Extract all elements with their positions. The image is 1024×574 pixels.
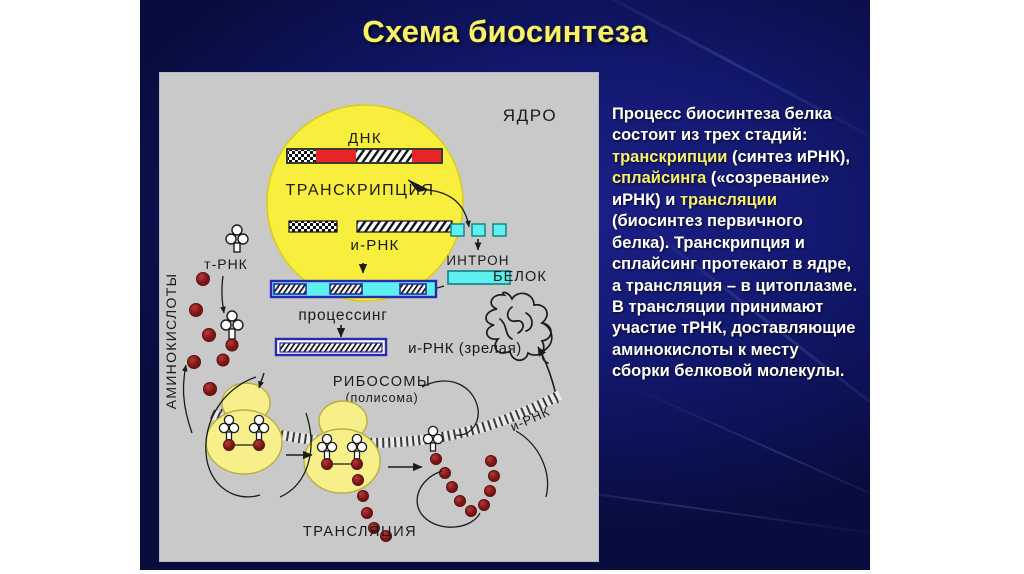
trna-free-top [226,225,248,252]
label-protein: БЕЛОК [493,269,547,285]
arrow-trna-down [222,276,224,313]
arrow-enter-ribosome [259,373,264,388]
light-streak [624,383,870,519]
label-translation: ТРАНСЛЯЦИЯ [303,524,417,540]
peptide-chain-right [431,454,500,517]
description-text: Процесс биосинтеза белка состоит из трех… [612,104,860,383]
biosynthesis-diagram-panel: ЯДРО ДНК ТРАНСКРИПЦИЯ и-РНК [159,72,599,562]
description-fragment: (синтез иРНК), [727,148,850,166]
trna-free-right [423,426,442,451]
label-dna: ДНК [348,130,382,147]
arrow-recycle-left [184,365,192,433]
label-irna-mature: и-РНК (зрелая) [408,340,522,357]
label-ribosomes: РИБОСОМЫ [333,374,431,390]
ribosome-1 [206,383,282,474]
transcript-fragments [289,221,452,232]
dna-strand [287,149,442,163]
label-intron: ИНТРОН [446,253,509,268]
pre-mrna-strand [271,281,436,297]
label-processing: процессинг [298,307,387,324]
highlighted-term: трансляции [680,191,777,209]
mature-mrna-strand [276,339,386,355]
intron-fragments [451,224,506,236]
label-irna: и-РНК [351,237,400,254]
amino-acid-pool [188,273,217,396]
trna-loaded [217,311,243,366]
label-trna: т-РНК [204,256,248,272]
label-nucleus: ЯДРО [503,106,557,125]
label-polysome: (полисома) [346,391,419,405]
highlighted-term: сплайсинга [612,169,706,187]
ribosome-2 [304,401,392,542]
description-paragraph: Процесс биосинтеза белка состоит из трех… [612,104,860,383]
label-amino-acids: АМИНОКИСЛОТЫ [163,273,179,410]
slide-canvas: Схема биосинтеза [140,0,870,570]
highlighted-term: транскрипции [612,148,727,166]
slide-title: Схема биосинтеза [140,14,870,50]
description-fragment: (биосинтез первичного белка). Транскрипц… [612,212,857,380]
description-fragment: Процесс биосинтеза белка состоит из трех… [612,105,832,144]
